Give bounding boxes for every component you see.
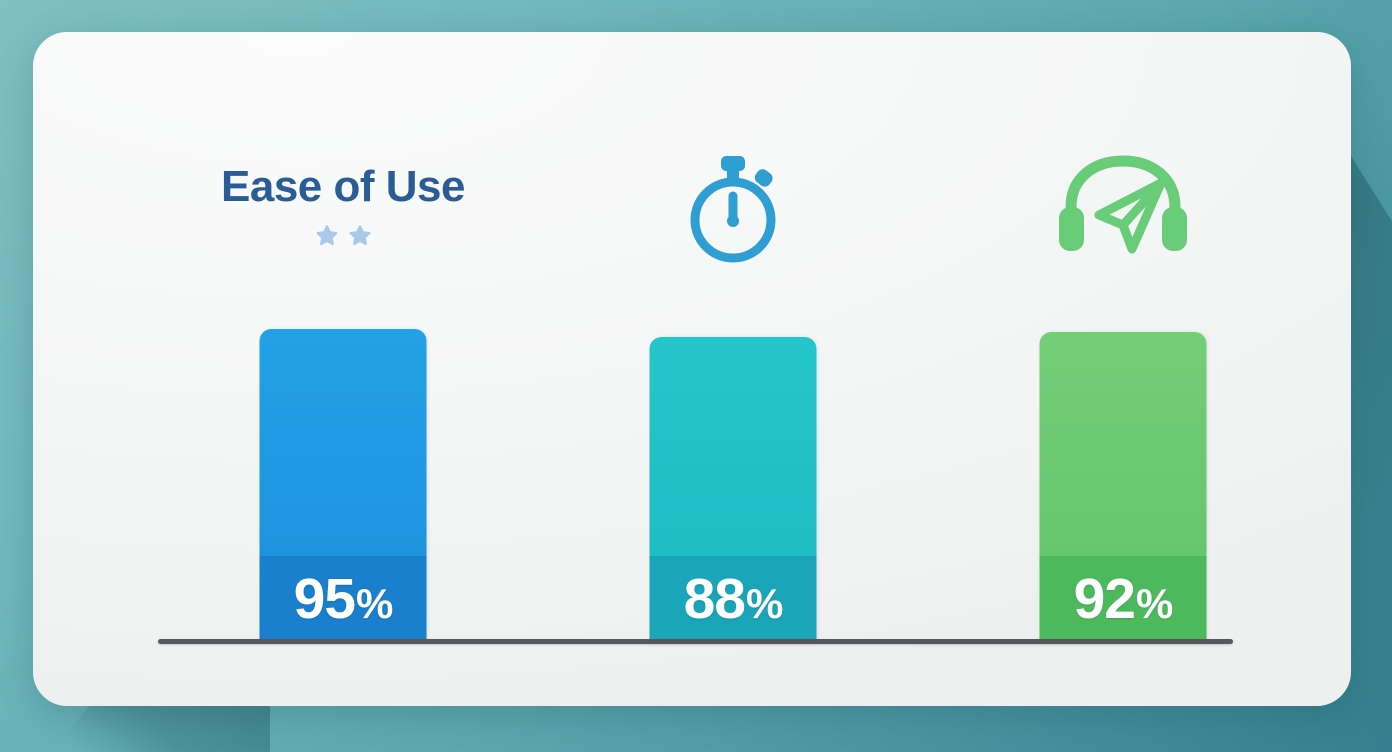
metric-header-speed <box>573 132 893 282</box>
status-badge: 88 % <box>684 571 783 628</box>
star-rating <box>314 223 373 249</box>
metric-value: 88 <box>684 571 745 628</box>
headset-support-icon <box>1057 155 1189 259</box>
infographic-stage: Ease of Use <box>0 0 1392 752</box>
metrics-card: Ease of Use <box>33 32 1351 706</box>
chart-baseline <box>158 639 1233 644</box>
percent-symbol: % <box>356 583 392 625</box>
percent-symbol: % <box>746 583 782 625</box>
metric-column-speed: 88 % <box>573 32 893 706</box>
metric-header-support <box>963 132 1283 282</box>
star-icon <box>314 223 340 249</box>
page-title: Ease of Use <box>221 165 465 209</box>
metric-header-ease-of-use: Ease of Use <box>183 132 503 282</box>
star-icon <box>347 223 373 249</box>
metric-column-support: 92 % <box>963 32 1283 706</box>
metric-bar-speed: 88 % <box>650 337 817 642</box>
stopwatch-icon <box>677 148 789 266</box>
metric-bar-ease-of-use: 95 % <box>260 329 427 642</box>
metric-bar-support: 92 % <box>1040 332 1207 642</box>
bar-body <box>1040 332 1207 556</box>
bar-body <box>650 337 817 556</box>
percent-symbol: % <box>1136 583 1172 625</box>
bar-value-footer: 88 % <box>650 556 817 642</box>
bar-value-footer: 92 % <box>1040 556 1207 642</box>
status-badge: 92 % <box>1074 571 1173 628</box>
bar-body <box>260 329 427 556</box>
metric-column-ease-of-use: Ease of Use <box>183 32 503 706</box>
metric-value: 95 <box>294 571 355 628</box>
status-badge: 95 % <box>294 571 393 628</box>
metric-value: 92 <box>1074 571 1135 628</box>
bar-value-footer: 95 % <box>260 556 427 642</box>
